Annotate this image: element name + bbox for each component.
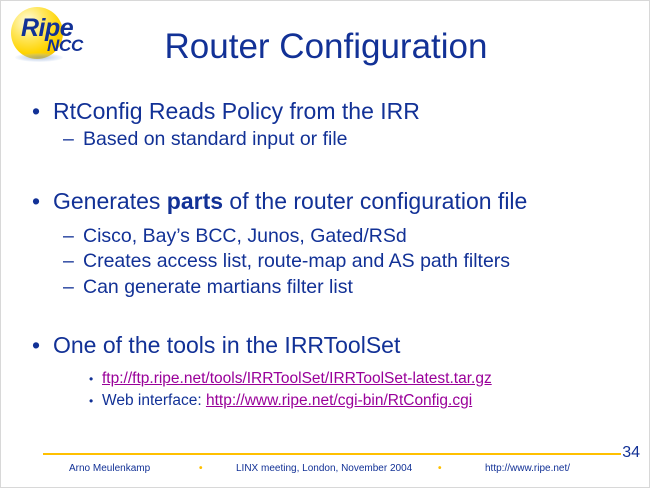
slide-title: Router Configuration <box>1 27 650 67</box>
spacer <box>1 301 650 331</box>
bullet-marker-icon: • <box>89 368 93 390</box>
bullet-text-pre: Generates <box>53 188 167 214</box>
spacer <box>1 217 650 224</box>
bullet-level1-one-of-the-tools: • One of the tools in the IRRToolSet <box>31 331 650 361</box>
presentation-slide: Ripe NCC Router Configuration • RtConfig… <box>0 0 650 488</box>
dash-marker-icon: – <box>63 127 74 153</box>
page-number: 34 <box>622 444 640 462</box>
footer-url: http://www.ripe.net/ <box>485 463 570 474</box>
bullet-text: Can generate martians filter list <box>83 276 353 298</box>
link-rtconfig-web[interactable]: http://www.ripe.net/cgi-bin/RtConfig.cgi <box>206 392 472 409</box>
bullet-text: Cisco, Bay’s BCC, Junos, Gated/RSd <box>83 225 407 247</box>
slide-body: • RtConfig Reads Policy from the IRR – B… <box>1 97 650 413</box>
spacer <box>1 361 650 368</box>
bullet-level2-martians-filter-list: – Can generate martians filter list <box>63 275 650 301</box>
bullet-marker-icon: • <box>32 97 40 127</box>
bullet-text: Based on standard input or file <box>83 128 348 150</box>
bullet-text-emphasis: parts <box>167 188 223 214</box>
slide-footer: Arno Meulenkamp • LINX meeting, London, … <box>1 463 650 481</box>
footer-divider <box>43 453 621 455</box>
dash-marker-icon: – <box>63 275 74 301</box>
link-irrtoolset-ftp[interactable]: ftp://ftp.ripe.net/tools/IRRToolSet/IRRT… <box>102 370 492 387</box>
bullet-level2-creates-access-list: – Creates access list, route-map and AS … <box>63 249 650 275</box>
footer-event: LINX meeting, London, November 2004 <box>236 463 412 474</box>
bullet-marker-icon: • <box>32 187 40 217</box>
spacer <box>1 153 650 187</box>
footer-separator-icon: • <box>199 463 203 474</box>
bullet-level2-based-on-standard-input: – Based on standard input or file <box>63 127 650 153</box>
dash-marker-icon: – <box>63 249 74 275</box>
bullet-text: Creates access list, route-map and AS pa… <box>83 250 510 272</box>
bullet-text: RtConfig Reads Policy from the IRR <box>53 98 420 124</box>
footer-separator-icon: • <box>438 463 442 474</box>
bullet-level2-cisco-bay-junos: – Cisco, Bay’s BCC, Junos, Gated/RSd <box>63 224 650 250</box>
dash-marker-icon: – <box>63 224 74 250</box>
bullet-text: One of the tools in the IRRToolSet <box>53 332 400 358</box>
web-interface-label: Web interface: <box>102 392 206 409</box>
footer-author: Arno Meulenkamp <box>69 463 150 474</box>
bullet-marker-icon: • <box>32 331 40 361</box>
bullet-marker-icon: • <box>89 390 93 412</box>
bullet-level3-ftp-download-link: • ftp://ftp.ripe.net/tools/IRRToolSet/IR… <box>89 368 650 390</box>
bullet-level1-rtconfig-reads-policy: • RtConfig Reads Policy from the IRR <box>31 97 650 127</box>
bullet-level3-web-interface-link: • Web interface: http://www.ripe.net/cgi… <box>89 390 650 412</box>
bullet-level1-generates-parts: • Generates parts of the router configur… <box>31 187 650 217</box>
bullet-text-post: of the router configuration file <box>223 188 527 214</box>
